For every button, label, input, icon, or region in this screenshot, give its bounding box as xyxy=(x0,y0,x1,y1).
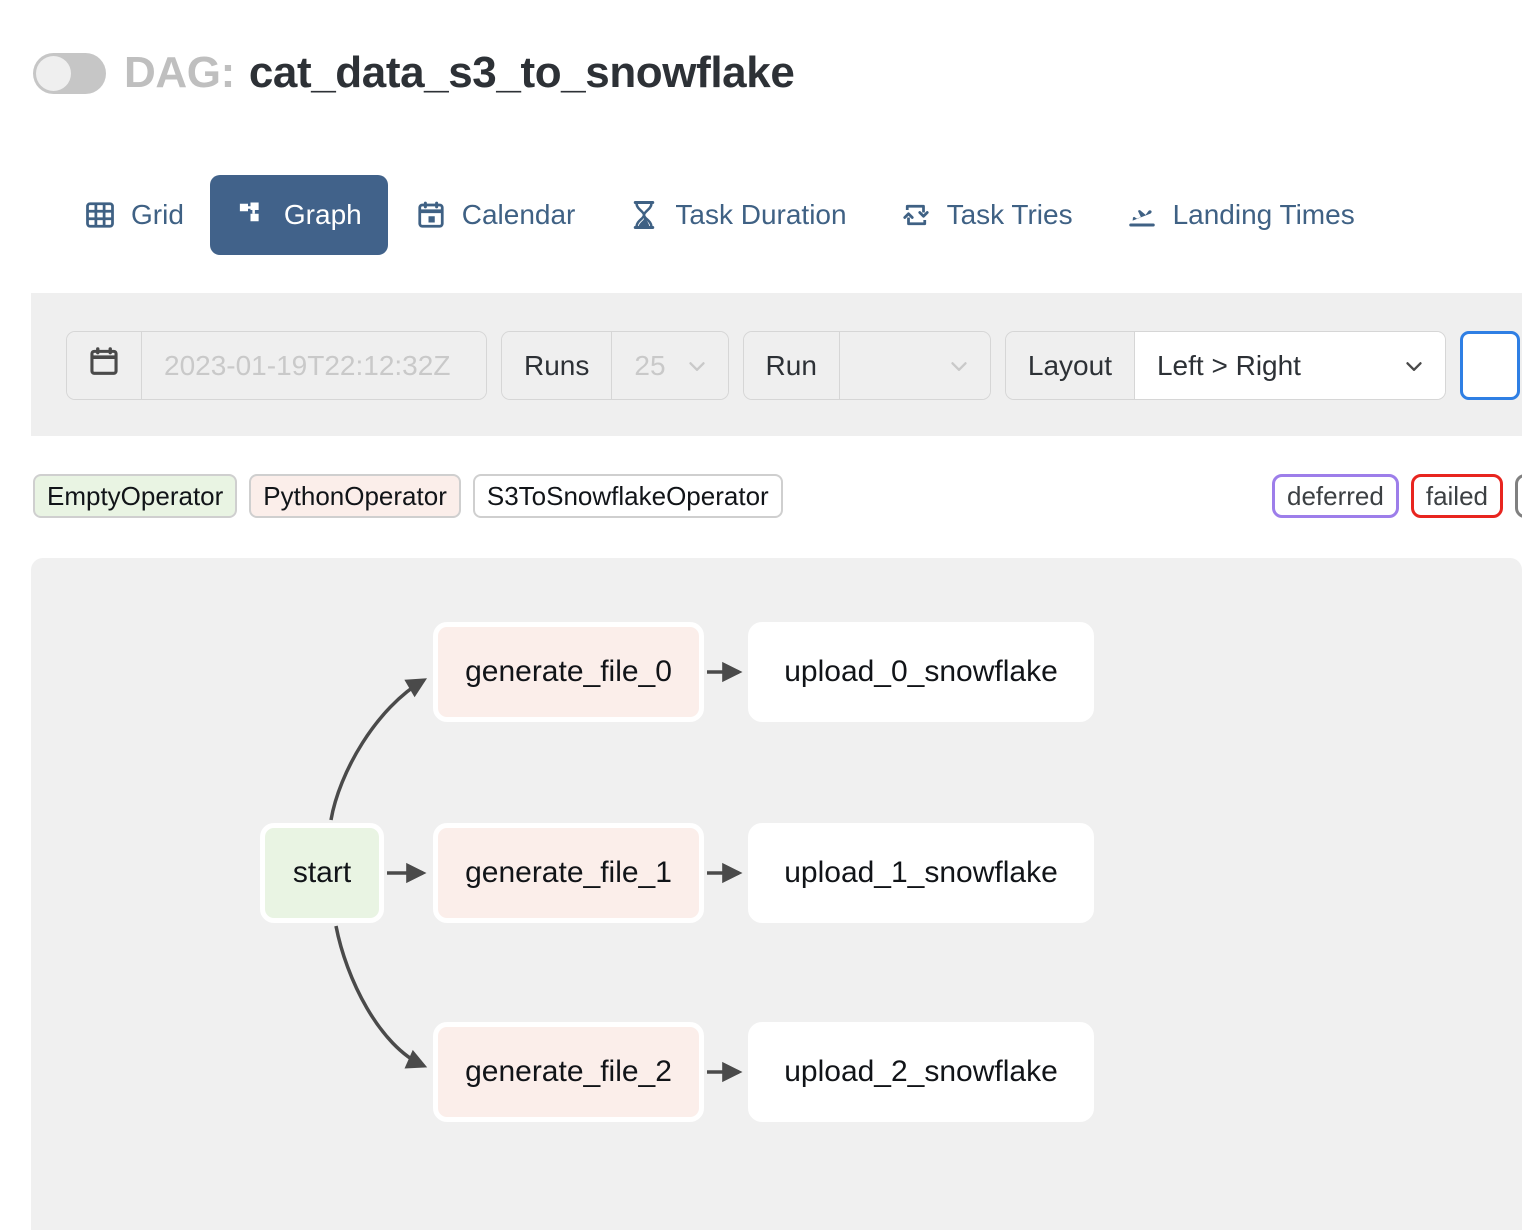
graph-node-upload-2-snowflake[interactable]: upload_2_snowflake xyxy=(748,1022,1094,1122)
graph-node-start[interactable]: start xyxy=(260,823,384,923)
tab-graph[interactable]: Graph xyxy=(210,175,388,255)
graph-canvas[interactable]: start generate_file_0 generate_file_1 ge… xyxy=(31,558,1522,1230)
layout-select[interactable]: Left > Right xyxy=(1135,332,1445,399)
toggle-off-icon[interactable] xyxy=(33,53,106,94)
repeat-icon xyxy=(899,198,933,232)
tab-landing-times-label: Landing Times xyxy=(1173,199,1355,231)
tab-graph-label: Graph xyxy=(284,199,362,231)
operator-legend: EmptyOperator PythonOperator S3ToSnowfla… xyxy=(33,474,783,518)
operator-badge-s3tosnowflakeoperator[interactable]: S3ToSnowflakeOperator xyxy=(473,474,783,518)
chevron-down-icon xyxy=(1401,353,1427,379)
runs-value: 25 xyxy=(634,350,665,382)
graph-node-label: generate_file_1 xyxy=(465,856,672,890)
page-title: DAG: cat_data_s3_to_snowflake xyxy=(124,48,794,98)
tab-calendar-label: Calendar xyxy=(462,199,576,231)
state-badge-label: deferred xyxy=(1287,481,1384,512)
graph-node-generate-file-0[interactable]: generate_file_0 xyxy=(433,622,704,722)
tabbar: Grid Graph Calendar xyxy=(57,175,1381,255)
operator-badge-label: S3ToSnowflakeOperator xyxy=(487,481,769,512)
tab-task-tries[interactable]: Task Tries xyxy=(873,175,1099,255)
state-badge-label: failed xyxy=(1426,481,1488,512)
calendar-picker-button[interactable] xyxy=(67,332,141,399)
page-title-prefix: DAG: xyxy=(124,48,235,98)
layout-label: Layout xyxy=(1006,332,1134,399)
graph-node-upload-1-snowflake[interactable]: upload_1_snowflake xyxy=(748,823,1094,923)
state-badge-failed[interactable]: failed xyxy=(1411,474,1503,518)
graph-node-label: upload_0_snowflake xyxy=(784,655,1058,689)
tab-task-duration[interactable]: Task Duration xyxy=(601,175,872,255)
operator-badge-pythonoperator[interactable]: PythonOperator xyxy=(249,474,461,518)
tab-calendar[interactable]: Calendar xyxy=(388,175,602,255)
graph-icon xyxy=(236,198,270,232)
dag-name: cat_data_s3_to_snowflake xyxy=(249,48,795,98)
runs-group: Runs 25 xyxy=(501,331,729,400)
operator-badge-label: PythonOperator xyxy=(263,481,447,512)
grid-icon xyxy=(83,198,117,232)
calendar-icon xyxy=(87,345,121,386)
graph-node-generate-file-2[interactable]: generate_file_2 xyxy=(433,1022,704,1122)
graph-toolbar: 2023-01-19T22:12:32Z Runs 25 Run xyxy=(31,293,1522,436)
graph-node-label: generate_file_0 xyxy=(465,655,672,689)
graph-node-upload-0-snowflake[interactable]: upload_0_snowflake xyxy=(748,622,1094,722)
tab-task-tries-label: Task Tries xyxy=(947,199,1073,231)
graph-node-generate-file-1[interactable]: generate_file_1 xyxy=(433,823,704,923)
chevron-down-icon xyxy=(684,353,710,379)
runs-label: Runs xyxy=(502,332,611,399)
calendar-icon xyxy=(414,198,448,232)
state-legend: deferred failed q xyxy=(1272,474,1522,518)
tab-grid-label: Grid xyxy=(131,199,184,231)
landing-plane-icon xyxy=(1125,198,1159,232)
run-group: Run xyxy=(743,331,991,400)
tab-task-duration-label: Task Duration xyxy=(675,199,846,231)
state-badge-deferred[interactable]: deferred xyxy=(1272,474,1399,518)
chevron-down-icon xyxy=(946,353,972,379)
run-label: Run xyxy=(744,332,839,399)
toolbar-focused-control[interactable] xyxy=(1460,331,1520,400)
page-header: DAG: cat_data_s3_to_snowflake xyxy=(33,48,794,98)
graph-node-label: upload_2_snowflake xyxy=(784,1055,1058,1089)
layout-group: Layout Left > Right xyxy=(1005,331,1446,400)
tab-landing-times[interactable]: Landing Times xyxy=(1099,175,1381,255)
legend-row: EmptyOperator PythonOperator S3ToSnowfla… xyxy=(0,474,1522,520)
layout-value: Left > Right xyxy=(1157,350,1383,382)
graph-node-label: generate_file_2 xyxy=(465,1055,672,1089)
operator-badge-label: EmptyOperator xyxy=(47,481,223,512)
runs-select[interactable]: 25 xyxy=(612,332,727,399)
operator-badge-emptyoperator[interactable]: EmptyOperator xyxy=(33,474,237,518)
execution-date-input[interactable]: 2023-01-19T22:12:32Z xyxy=(142,332,486,399)
hourglass-icon xyxy=(627,198,661,232)
state-badge-queued[interactable]: q xyxy=(1515,474,1522,518)
run-select[interactable] xyxy=(840,332,990,399)
date-picker-group: 2023-01-19T22:12:32Z xyxy=(66,331,487,400)
tab-grid[interactable]: Grid xyxy=(57,175,210,255)
graph-node-label: upload_1_snowflake xyxy=(784,856,1058,890)
toggle-knob xyxy=(36,56,71,91)
graph-node-label: start xyxy=(293,856,351,890)
